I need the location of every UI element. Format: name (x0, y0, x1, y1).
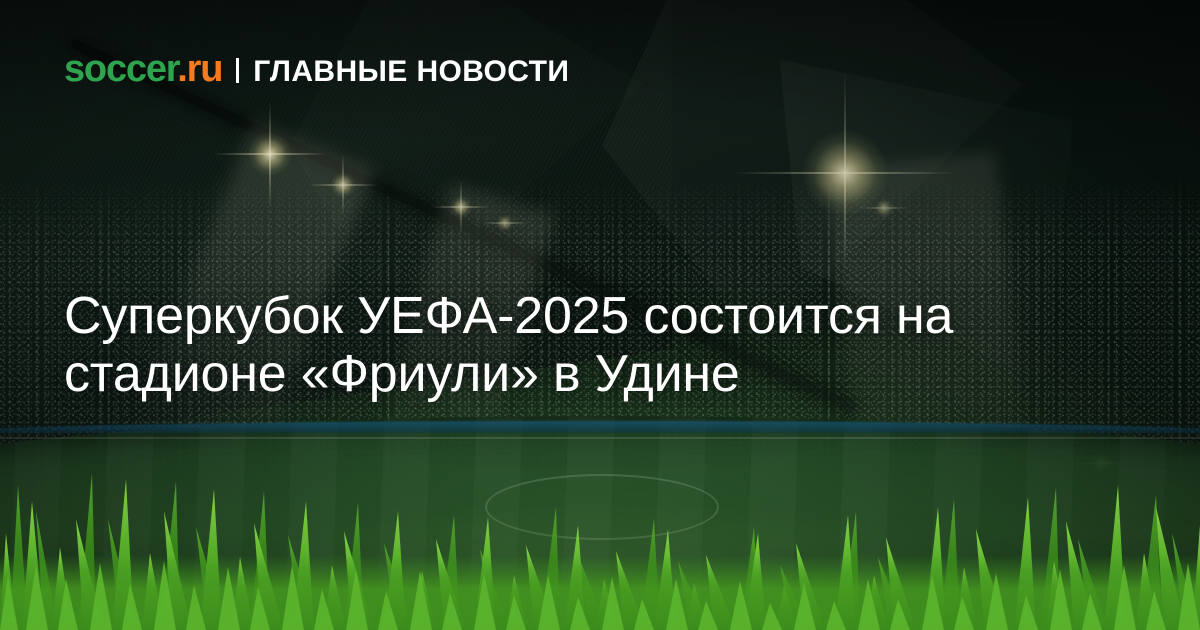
header-divider (236, 58, 239, 83)
headline-line-1: Суперкубок УЕФА-2025 состоится на (64, 287, 1144, 345)
section-kicker: ГЛАВНЫЕ НОВОСТИ (253, 57, 569, 87)
card-header: soccer.ru ГЛАВНЫЕ НОВОСТИ (64, 50, 569, 88)
logo-text-primary: soccer (64, 48, 177, 90)
headline: Суперкубок УЕФА-2025 состоится на стадио… (64, 287, 1144, 403)
news-share-card: soccer.ru ГЛАВНЫЕ НОВОСТИ Суперкубок УЕФ… (0, 0, 1200, 630)
headline-line-2: стадионе «Фриули» в Удине (64, 345, 1144, 403)
site-logo[interactable]: soccer.ru (64, 50, 222, 88)
logo-text-suffix: .ru (177, 48, 222, 90)
